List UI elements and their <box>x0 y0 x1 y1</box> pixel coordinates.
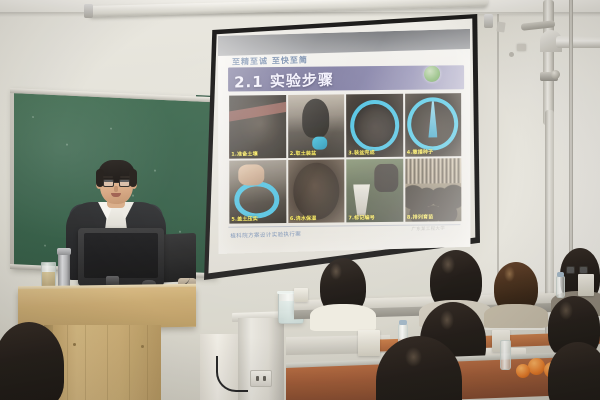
bottle-cap <box>557 272 564 277</box>
glasses-lens-left <box>103 179 114 187</box>
monitor[interactable] <box>78 228 164 286</box>
photo-caption: 1.准备土壤 <box>231 150 258 157</box>
photo-caption: 5.盖土压实 <box>231 215 258 222</box>
slide-photo-6: 6.浇水保湿 <box>288 159 345 223</box>
wall-fixture <box>517 44 526 51</box>
podium-body <box>53 325 161 400</box>
photo-caption: 2.取土装盆 <box>290 150 317 157</box>
roller-mount <box>496 21 505 32</box>
wall-screw <box>509 52 514 57</box>
photo-caption: 7.标记编号 <box>348 214 375 221</box>
student-front-center <box>376 336 462 400</box>
presenter-eyebrow-right <box>120 176 130 178</box>
student-front-right <box>548 342 600 400</box>
projection-screen[interactable]: 至精至诚 至快至简 2.1 实验步骤 1.准备土壤 2.取土装盆 3.装盆完成 … <box>204 14 480 280</box>
slide-footer-left: 植科院方案设计实验执行案 <box>230 230 301 240</box>
photo-caption: 4.撒播种子 <box>407 148 434 155</box>
student-back-right <box>494 262 538 314</box>
roller-cap-right <box>484 14 493 28</box>
slide-photo-7: 7.标记编号 <box>346 159 403 223</box>
desk-package <box>578 274 594 296</box>
slide-title: 2.1 实验步骤 <box>234 69 334 93</box>
presenter-eyebrow-left <box>103 176 113 178</box>
presenter-nose <box>114 186 118 192</box>
pipe-valve-knob <box>551 70 560 79</box>
pipe-horizontal <box>556 36 600 48</box>
photo-caption: 6.浇水保湿 <box>290 215 317 222</box>
slide-photo-4: 4.撒播种子 <box>405 93 462 157</box>
slide-photo-5: 5.盖土压实 <box>229 160 286 224</box>
classroom-scene: 至精至诚 至快至简 2.1 实验步骤 1.准备土壤 2.取土装盆 3.装盆完成 … <box>0 0 600 400</box>
roller-cap-left <box>84 4 93 18</box>
slide-photo-1: 1.准备土壤 <box>229 95 286 159</box>
presenter-hair-side-right <box>129 169 137 187</box>
photo-caption: 3.装盆完成 <box>348 149 375 156</box>
slide-footer-right: 广东某工程大学 <box>411 226 445 233</box>
photo-caption: 8.排列育苗 <box>407 213 434 220</box>
student-front-left <box>0 322 64 400</box>
water-bottle <box>500 340 511 370</box>
presentation-slide: 至精至诚 至快至简 2.1 实验步骤 1.准备土壤 2.取土装盆 3.装盆完成 … <box>218 29 470 254</box>
slide-tagline: 至精至诚 至快至简 <box>232 54 308 67</box>
student-back-left <box>320 258 366 316</box>
slide-photo-3: 3.装盆完成 <box>346 94 403 158</box>
power-outlet[interactable] <box>250 370 272 387</box>
orange <box>528 358 545 375</box>
slide-photo-8: 8.排列育苗 <box>405 158 462 222</box>
desk-item-left <box>294 288 308 302</box>
glasses-bridge <box>114 182 119 183</box>
glasses-lens-right <box>119 179 130 187</box>
water-bottle <box>556 276 565 298</box>
slide-photo-2: 2.取土装盆 <box>288 94 345 158</box>
thermos-cap <box>57 248 71 255</box>
pipe-vertical-upper <box>543 0 554 125</box>
bottle-cap <box>399 320 407 325</box>
thermos <box>58 252 70 290</box>
wall-corner <box>497 0 499 300</box>
slide-photo-grid: 1.准备土壤 2.取土装盆 3.装盆完成 4.撒播种子 5.盖土压实 6.浇水保… <box>229 93 461 224</box>
monitor-screen <box>84 233 158 278</box>
orange <box>516 364 530 378</box>
